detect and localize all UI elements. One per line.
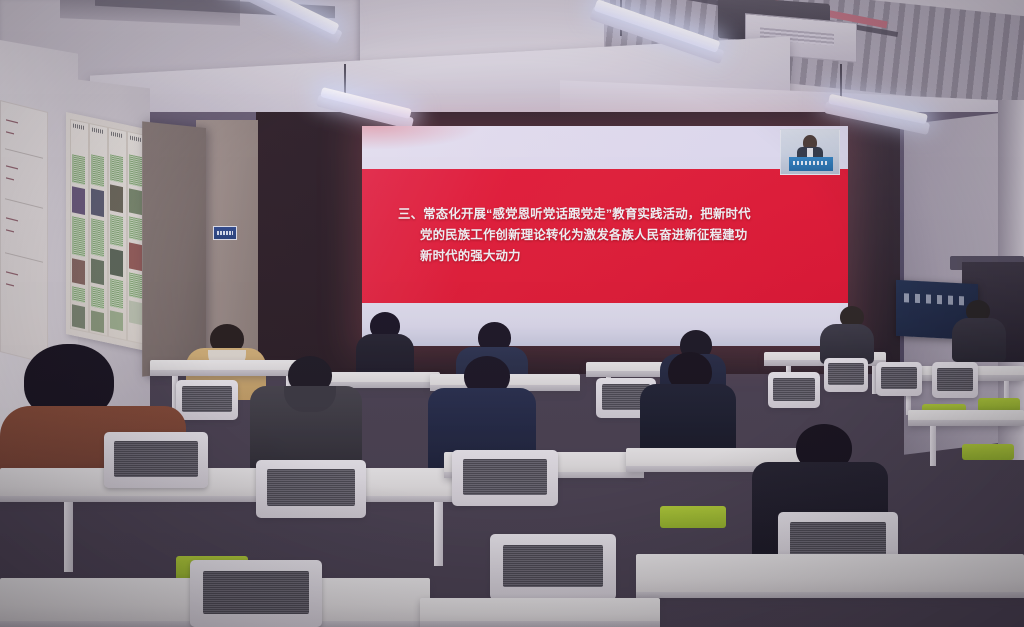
wall-poster-left: ▬▬▬ ▬▬ ▬▬▬ ▬▬ ▬▬▬ ▬▬ ▬▬▬ ▬▬ <box>0 100 48 364</box>
chair[interactable] <box>932 362 978 398</box>
speaker-at-podium-video <box>780 129 840 175</box>
desk <box>0 468 470 502</box>
desk <box>420 598 660 627</box>
chair-seat[interactable] <box>660 506 726 528</box>
chair[interactable] <box>490 534 616 600</box>
slide-text-line-1: 三、常态化开展“感党恩听党话跟党走”教育实践活动，把新时代 <box>398 204 828 225</box>
slide-text: 三、常态化开展“感党恩听党话跟党走”教育实践活动，把新时代 党的民族工作创新理论… <box>398 204 828 267</box>
slide-top-band <box>362 126 848 169</box>
podium-banner <box>789 157 833 171</box>
attendee-front-right <box>640 352 736 460</box>
desk <box>908 410 1024 426</box>
slide-text-line-2: 党的民族工作创新理论转化为激发各族人民奋进新征程建功 <box>398 225 828 246</box>
attendee-back-right <box>952 300 1006 358</box>
chair[interactable] <box>104 432 208 488</box>
chair[interactable] <box>256 460 366 518</box>
desk-leg <box>64 502 73 572</box>
chair[interactable] <box>876 362 922 396</box>
projection-screen: 三、常态化开展“感党恩听党话跟党走”教育实践活动，把新时代 党的民族工作创新理论… <box>362 126 848 346</box>
desk-leg <box>434 502 443 566</box>
attendee-far-right <box>818 306 874 358</box>
desk <box>636 554 1024 598</box>
chair[interactable] <box>768 372 820 408</box>
slide-bottom-band <box>362 303 848 346</box>
room-number-sign <box>213 226 237 240</box>
attendee-dark-jacket-left <box>250 356 362 468</box>
chair[interactable] <box>452 450 558 506</box>
chair-seat[interactable] <box>962 444 1014 460</box>
chair[interactable] <box>190 560 322 627</box>
desk-leg <box>930 426 936 466</box>
slide-text-line-3: 新时代的强大动力 <box>398 246 828 267</box>
wall-poster-board <box>66 112 148 351</box>
chair[interactable] <box>824 358 868 392</box>
classroom-photo-scene: ▬▬▬ ▬▬ ▬▬▬ ▬▬ ▬▬▬ ▬▬ ▬▬▬ ▬▬ <box>0 0 1024 627</box>
